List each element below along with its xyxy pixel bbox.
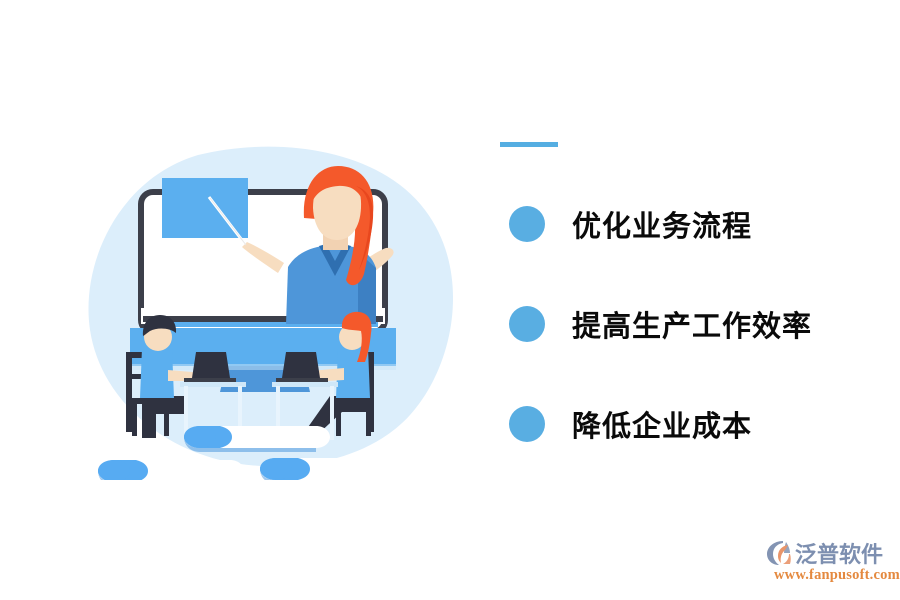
online-training-illustration: [80, 130, 460, 480]
bullet-item-2[interactable]: 提高生产工作效率: [498, 274, 878, 374]
logo-company-name: 泛普软件: [795, 537, 883, 569]
slide-canvas: 优化业务流程 提高生产工作效率 降低企业成本 泛普软件: [0, 0, 900, 600]
bullet-dot-icon: [509, 306, 545, 342]
bullet-dot-icon: [509, 406, 545, 442]
accent-rule: [500, 142, 558, 147]
bullet-label-3: 降低企业成本: [572, 403, 752, 445]
bullet-list: 优化业务流程 提高生产工作效率 降低企业成本: [498, 174, 878, 474]
fanpu-logo-mark-icon: [766, 540, 794, 566]
bullet-dot-icon: [509, 206, 545, 242]
bullet-item-3[interactable]: 降低企业成本: [498, 374, 878, 474]
bullet-label-1: 优化业务流程: [572, 203, 752, 245]
logo-website-url: www.fanpusoft.com: [774, 567, 890, 584]
bullet-item-1[interactable]: 优化业务流程: [498, 174, 878, 274]
bullet-label-2: 提高生产工作效率: [572, 303, 812, 345]
bullet-column: 优化业务流程 提高生产工作效率 降低企业成本: [498, 130, 878, 450]
brand-logo[interactable]: 泛普软件 www.fanpusoft.com: [766, 538, 890, 586]
logo-row: 泛普软件: [766, 538, 890, 568]
